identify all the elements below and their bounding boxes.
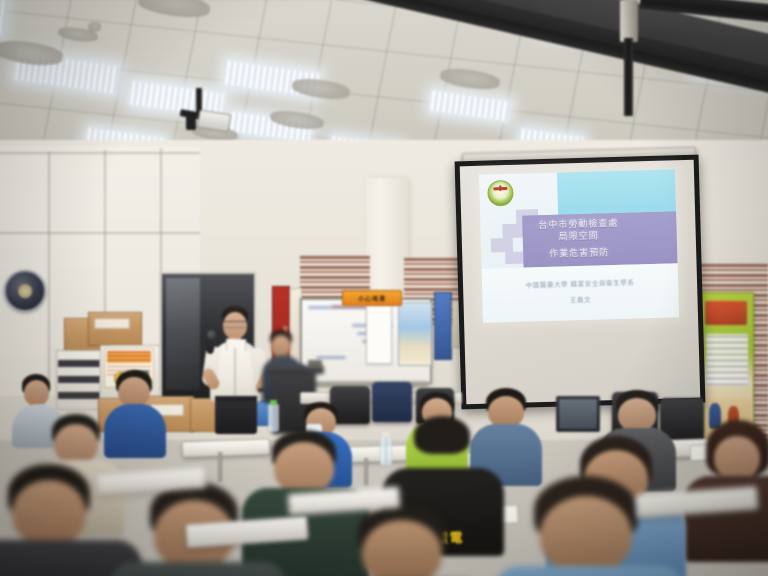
presenter-trousers [215, 398, 257, 434]
audience-member-foreground [504, 476, 674, 576]
cabinet-glass-highlight [166, 278, 200, 390]
audience-shirt [494, 566, 686, 576]
computer-monitor [556, 396, 600, 432]
slide-lower-white [482, 263, 679, 323]
ceiling-duct [620, 0, 638, 42]
poster-title-band [705, 301, 747, 325]
classroom-photo-scene: 安全衛生 小心地滑 [0, 0, 768, 576]
water-bottle [380, 436, 392, 466]
shelf-slot [58, 360, 100, 367]
box-label [94, 318, 130, 329]
wall-panel-seam [48, 152, 50, 392]
audience-head [12, 480, 86, 546]
poster-text-block [706, 334, 748, 386]
blue-folder [434, 292, 452, 360]
audience-shirt [108, 562, 288, 576]
warning-stripe-header [107, 351, 151, 364]
ceiling-smoke-detector [88, 22, 101, 32]
bottle-cap [382, 432, 390, 437]
wall-panel-seam [0, 152, 200, 154]
audience-head [118, 377, 150, 407]
audience-head [618, 398, 656, 432]
wall-panel-seam [0, 232, 200, 234]
projected-slide: 台中市勞動檢查處 局限空間 作業危害預防 中國醫藥大學 職業安全與衛生學系 王晨… [479, 169, 679, 322]
lectern-top [266, 366, 324, 374]
water-bottle [268, 404, 279, 432]
ceiling-duct-pole [624, 38, 633, 116]
shelf-slot [58, 376, 100, 383]
monitor-screen [559, 399, 597, 429]
orange-notice-sign: 小心地滑 [342, 290, 402, 306]
audience-head [714, 436, 760, 480]
audience-member [690, 420, 768, 550]
microphone-head [207, 330, 216, 339]
presenter-glasses [223, 321, 247, 328]
projection-screen[interactable]: 台中市勞動檢查處 局限空間 作業危害預防 中國醫藥大學 職業安全與衛生學系 王晨… [455, 155, 706, 410]
desk-leg [364, 458, 368, 486]
projector-mount-bracket [186, 116, 196, 130]
desk-leg [218, 452, 222, 482]
presenter-belt [215, 396, 257, 401]
presenter-shirt-placket [234, 348, 236, 398]
audience-member-foreground [328, 504, 478, 576]
audience-head [54, 424, 98, 464]
audience-head [416, 426, 468, 472]
posted-notice [366, 304, 392, 364]
audience-head [540, 496, 632, 574]
government-emblem-logo [487, 180, 514, 207]
bottle-cap [270, 400, 277, 405]
audience-head [274, 442, 334, 494]
assistant-head [271, 335, 291, 357]
presenter-collar [226, 339, 246, 352]
shelf-slot [58, 392, 100, 399]
audience-head [24, 380, 49, 406]
whiteboard-writing [316, 356, 346, 359]
posted-poster [398, 302, 432, 366]
slide-cyan-band [557, 169, 679, 214]
wall-clock [4, 270, 46, 312]
